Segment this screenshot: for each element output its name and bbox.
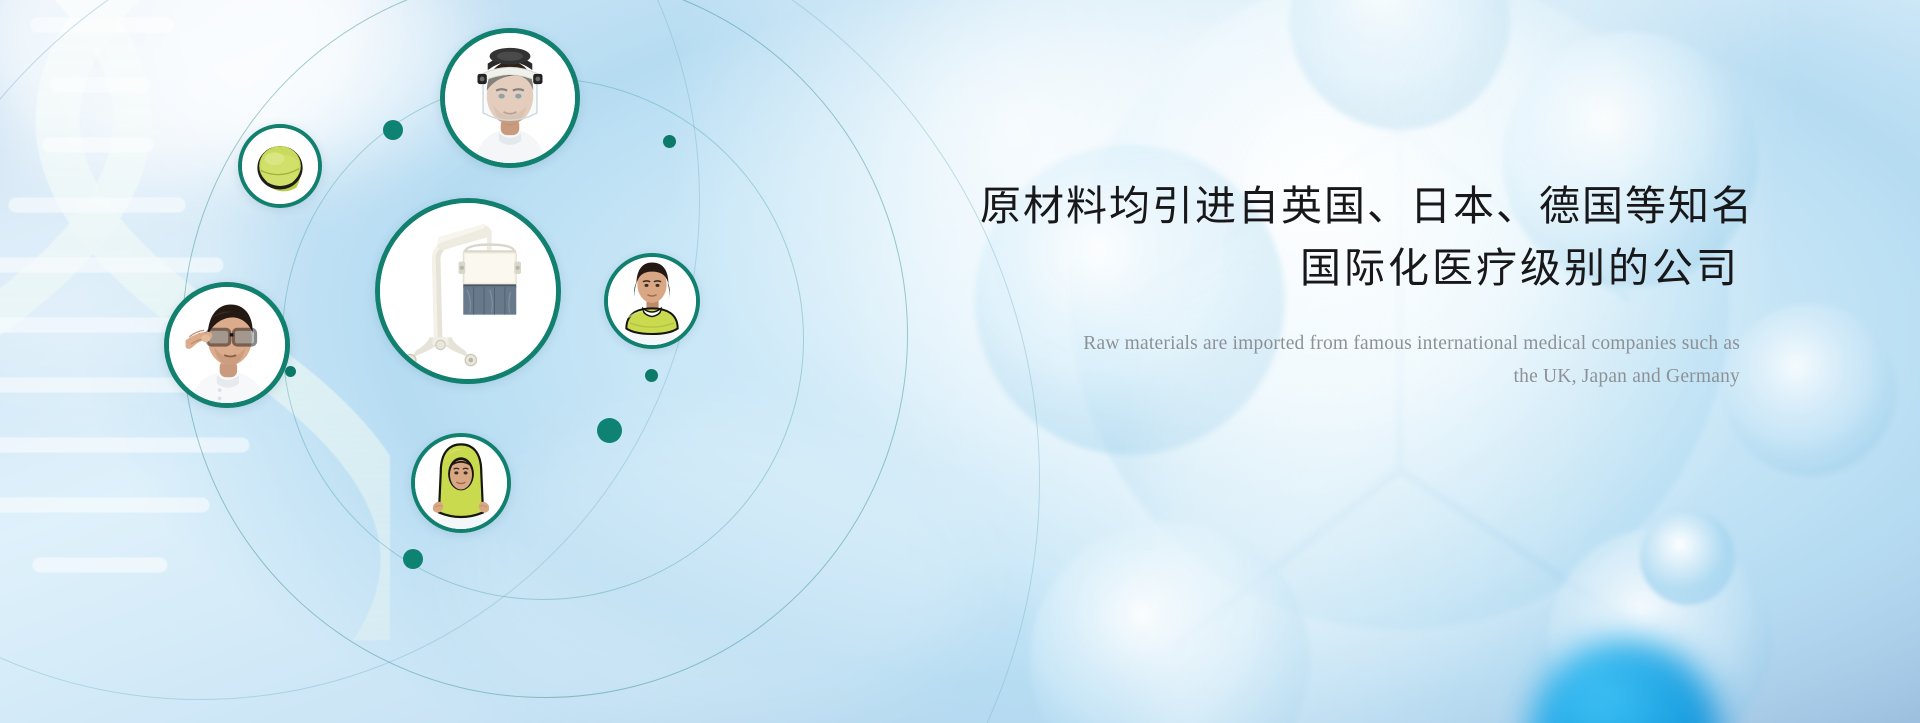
blue-sphere-accent-icon xyxy=(1640,510,1735,605)
cloud-blotch xyxy=(460,420,980,720)
subtitle-block: Raw materials are imported from famous i… xyxy=(980,327,1740,393)
lead-glasses-photo-icon xyxy=(169,287,285,403)
headline-line-1: 原材料均引进自英国、日本、德国等知名 xyxy=(980,175,1740,237)
bubble-face-shield[interactable] xyxy=(440,28,580,168)
blue-sphere-accent-icon xyxy=(1530,640,1720,723)
bubble-thyroid-collar[interactable] xyxy=(604,253,700,349)
bubble-mobile-barrier[interactable] xyxy=(375,198,561,384)
orbit-dot-right-large xyxy=(597,418,622,443)
protection-hood-photo-icon xyxy=(415,437,507,529)
subtitle-line-1: Raw materials are imported from famous i… xyxy=(980,327,1740,360)
hero-banner: 原材料均引进自英国、日本、德国等知名 国际化医疗级别的公司 Raw materi… xyxy=(0,0,1920,723)
orbit-dot-top-right xyxy=(663,135,676,148)
cloud-blotch xyxy=(0,0,380,180)
face-shield-photo-icon xyxy=(445,33,575,163)
bubble-lead-cap[interactable] xyxy=(238,124,322,208)
headline-line-2: 国际化医疗级别的公司 xyxy=(980,237,1740,299)
lead-cap-photo-icon xyxy=(242,128,318,204)
orbit-dot-bottom xyxy=(403,549,423,569)
subtitle-line-2: the UK, Japan and Germany xyxy=(980,360,1740,393)
orbit-dot-upper-left xyxy=(383,120,403,140)
bubble-protection-hood[interactable] xyxy=(411,433,511,533)
orbit-ring-faint-left xyxy=(0,0,700,700)
thyroid-collar-photo-icon xyxy=(608,257,696,345)
bubble-lead-glasses[interactable] xyxy=(164,282,290,408)
orbit-dot-right-small xyxy=(645,369,658,382)
mobile-barrier-photo-icon xyxy=(380,203,556,379)
copy-block: 原材料均引进自英国、日本、德国等知名 国际化医疗级别的公司 Raw materi… xyxy=(980,175,1740,393)
orbit-dot-mid-left xyxy=(285,366,296,377)
